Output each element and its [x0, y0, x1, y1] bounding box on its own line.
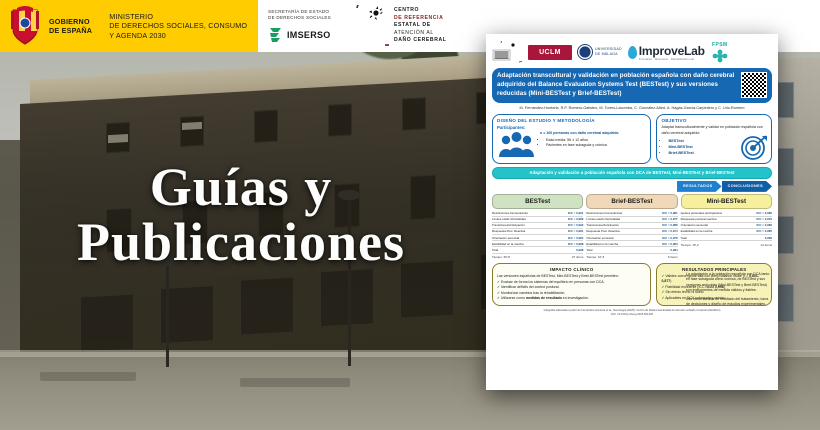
fpsm-cross-icon — [711, 49, 729, 63]
test-footer-mini-bestest: Tiempo: 15',2 14 ítems — [681, 243, 772, 247]
test-table-bestest: Restricciones biomecánicasICC = 0,991 Lí… — [492, 211, 583, 254]
test-table-brief-bestest: Restricciones biomecánicasICC = 0,981 Lí… — [586, 211, 677, 254]
spain-coat-of-arms-icon — [8, 6, 42, 46]
check-icon: ✓ — [661, 285, 664, 289]
test-time: Tiempo: 35',8 — [492, 255, 510, 259]
check-icon: ✓ — [661, 296, 664, 300]
list-item: ✓ Utilizarse como medidas de resultado e… — [497, 296, 646, 301]
check-icon: ✓ — [661, 290, 664, 294]
table-row: Total0,996 — [681, 235, 772, 241]
ceadac-logo: CENTRO DE REFERENCIA ESTATAL DE ATENCIÓN… — [331, 5, 447, 47]
uma-line-2: DE MÁLAGA — [595, 52, 622, 57]
clinical-impact-lead: Las versiones españolas de BESTest, Mini… — [497, 274, 646, 279]
ceadac-line-3: ESTATAL DE — [394, 22, 447, 30]
poster-footer-line-2: DOI: 10.1016/j.nrleng.2025.501425 — [492, 313, 772, 317]
ceadac-line-5: DAÑO CEREBRAL — [394, 37, 447, 45]
ministerio-line-2: DE DERECHOS SOCIALES, CONSUMO — [109, 21, 247, 30]
poster-title-block: Adaptación transcultural y validación en… — [492, 68, 772, 103]
study-design-bullets: Edad media: 56 ± 12 años Pacientes en fa… — [540, 138, 619, 148]
test-time: Tiempo: 10',5 — [586, 255, 604, 259]
test-name-mini-bestest: Mini-BESTest — [681, 194, 772, 209]
poster-authors: M. Fernández-Hontoria, R.P. Romero-Galis… — [492, 103, 772, 112]
secretaria-line-2: DE DERECHOS SOCIALES — [268, 15, 331, 21]
clinical-impact-card: IMPACTO CLÍNICO Las versiones españolas … — [492, 263, 651, 306]
test-items: 27 ítems — [572, 255, 584, 259]
participants-subheading: Participantes: — [497, 125, 646, 130]
imserso-label: IMSERSO — [287, 30, 331, 40]
test-name-bestest: BESTest — [492, 194, 583, 209]
page-title: Guías y Publicaciones — [26, 160, 456, 270]
ministerio-text: MINISTERIO DE DERECHOS SOCIALES, CONSUMO… — [99, 12, 247, 40]
participants-icon — [497, 131, 537, 159]
ministerio-line-3: Y AGENDA 2030 — [109, 31, 247, 40]
page-title-line-2: Publicaciones — [26, 215, 456, 270]
qr-code-icon[interactable] — [741, 72, 767, 98]
conclusion-paragraph: Uso como medida de resultado del tratami… — [686, 297, 772, 308]
uclm-logo-icon: UCLM — [528, 45, 572, 60]
adaptation-banner: Adaptación y validación a población espa… — [492, 167, 772, 179]
section-chevrons: RESULTADOS CONCLUSIONES — [492, 181, 772, 192]
uma-seal-icon — [578, 45, 592, 59]
test-column-bestest: BESTest Restricciones biomecánicasICC = … — [492, 194, 583, 259]
test-name-brief-bestest: Brief-BESTest — [586, 194, 677, 209]
check-icon: ✓ — [497, 285, 500, 289]
ceadac-text: CENTRO DE REFERENCIA ESTATAL DE ATENCIÓN… — [394, 7, 447, 45]
research-poster[interactable]: UCLM UNIVERSIDAD DE MÁLAGA ImproveLab In… — [486, 34, 778, 390]
conclusion-paragraph: La adaptación a la población española co… — [686, 272, 772, 293]
test-table-mini-bestest: Ajustes posturales anticipatoriosICC = 0… — [681, 211, 772, 241]
improvelab-drop-icon — [628, 46, 637, 59]
improvelab-sublabel: Innovation · Movement · Rehabilitation L… — [639, 58, 705, 61]
clinical-impact-heading: IMPACTO CLÍNICO — [497, 267, 646, 272]
study-design-card: DISEÑO DEL ESTUDIO Y METODOLOGÍA Partici… — [492, 114, 651, 163]
chevron-conclusiones: CONCLUSIONES — [722, 181, 772, 192]
uclm-label: UCLM — [539, 49, 561, 56]
improvelab-label: ImproveLab — [639, 44, 705, 58]
poster-title: Adaptación transcultural y validación en… — [497, 72, 737, 99]
secretaria-estado: SECRETARÍA DE ESTADO DE DERECHOS SOCIALE… — [258, 9, 331, 43]
check-icon: ✓ — [497, 296, 500, 300]
target-icon — [741, 134, 767, 160]
check-icon: ✓ — [497, 291, 500, 295]
imserso-mark-icon — [268, 26, 283, 43]
test-items: 14 ítems — [760, 243, 772, 247]
test-comparison-row: BESTest Restricciones biomecánicasICC = … — [492, 194, 772, 259]
table-row: Total0,998 — [492, 247, 583, 253]
fpsm-label: FPSM — [712, 42, 728, 48]
objective-card: OBJETIVO Adaptar transculturalmente y va… — [656, 114, 772, 163]
ministerio-line-1: MINISTERIO — [109, 12, 247, 21]
check-icon: ✓ — [661, 274, 664, 278]
ceadac-line-1: CENTRO — [394, 7, 447, 15]
gobierno-line-1: GOBIERNO — [49, 17, 92, 26]
study-design-bullet: Pacientes en fase subaguda y crónica — [546, 143, 619, 148]
test-column-mini-bestest: Mini-BESTest Ajustes posturales anticipa… — [681, 194, 772, 259]
gobierno-text: GOBIERNO DE ESPAÑA — [49, 17, 92, 35]
ceadac-logo-icon — [492, 41, 522, 63]
study-design-body: n = 100 personas con daño cerebral adqui… — [497, 131, 646, 159]
study-design-heading: DISEÑO DEL ESTUDIO Y METODOLOGÍA — [497, 118, 646, 123]
improvelab-logo-icon: ImproveLab Innovation · Movement · Rehab… — [628, 44, 705, 61]
study-design-text: n = 100 personas con daño cerebral adqui… — [540, 131, 619, 148]
test-items: 6 ítems — [668, 255, 678, 259]
gobierno-line-2: DE ESPAÑA — [49, 26, 92, 35]
sample-size: n = 100 personas con daño cerebral adqui… — [540, 131, 619, 135]
check-icon: ✓ — [497, 280, 500, 284]
test-column-brief-bestest: Brief-BESTest Restricciones biomecánicas… — [586, 194, 677, 259]
gobierno-de-espana-block: GOBIERNO DE ESPAÑA MINISTERIO DE DERECHO… — [0, 0, 258, 52]
page-root: GOBIERNO DE ESPAÑA MINISTERIO DE DERECHO… — [0, 0, 820, 430]
table-row: Total0,994 — [586, 247, 677, 253]
ceadac-arc-icon — [345, 5, 389, 47]
test-footer-bestest: Tiempo: 35',8 27 ítems — [492, 255, 583, 259]
page-title-line-1: Guías y — [26, 160, 456, 215]
imserso-logo: IMSERSO — [268, 26, 331, 43]
uma-text: UNIVERSIDAD DE MÁLAGA — [595, 47, 622, 56]
uma-logo-icon: UNIVERSIDAD DE MÁLAGA — [578, 45, 622, 59]
clinical-impact-list: ✓ Evaluar de forma los sistemas del equi… — [497, 280, 646, 302]
poster-logo-row: UCLM UNIVERSIDAD DE MÁLAGA ImproveLab In… — [492, 39, 772, 65]
poster-top-cards: DISEÑO DEL ESTUDIO Y METODOLOGÍA Partici… — [492, 114, 772, 163]
test-time: Tiempo: 15',2 — [681, 243, 699, 247]
chevron-resultados: RESULTADOS — [677, 181, 722, 192]
test-footer-brief-bestest: Tiempo: 10',5 6 ítems — [586, 255, 677, 259]
ceadac-line-2: DE REFERENCIA — [394, 15, 447, 23]
fpsm-logo-icon: FPSM — [711, 42, 729, 63]
objective-heading: OBJETIVO — [661, 118, 767, 123]
conclusions-panel: La adaptación a la población española co… — [686, 272, 772, 312]
